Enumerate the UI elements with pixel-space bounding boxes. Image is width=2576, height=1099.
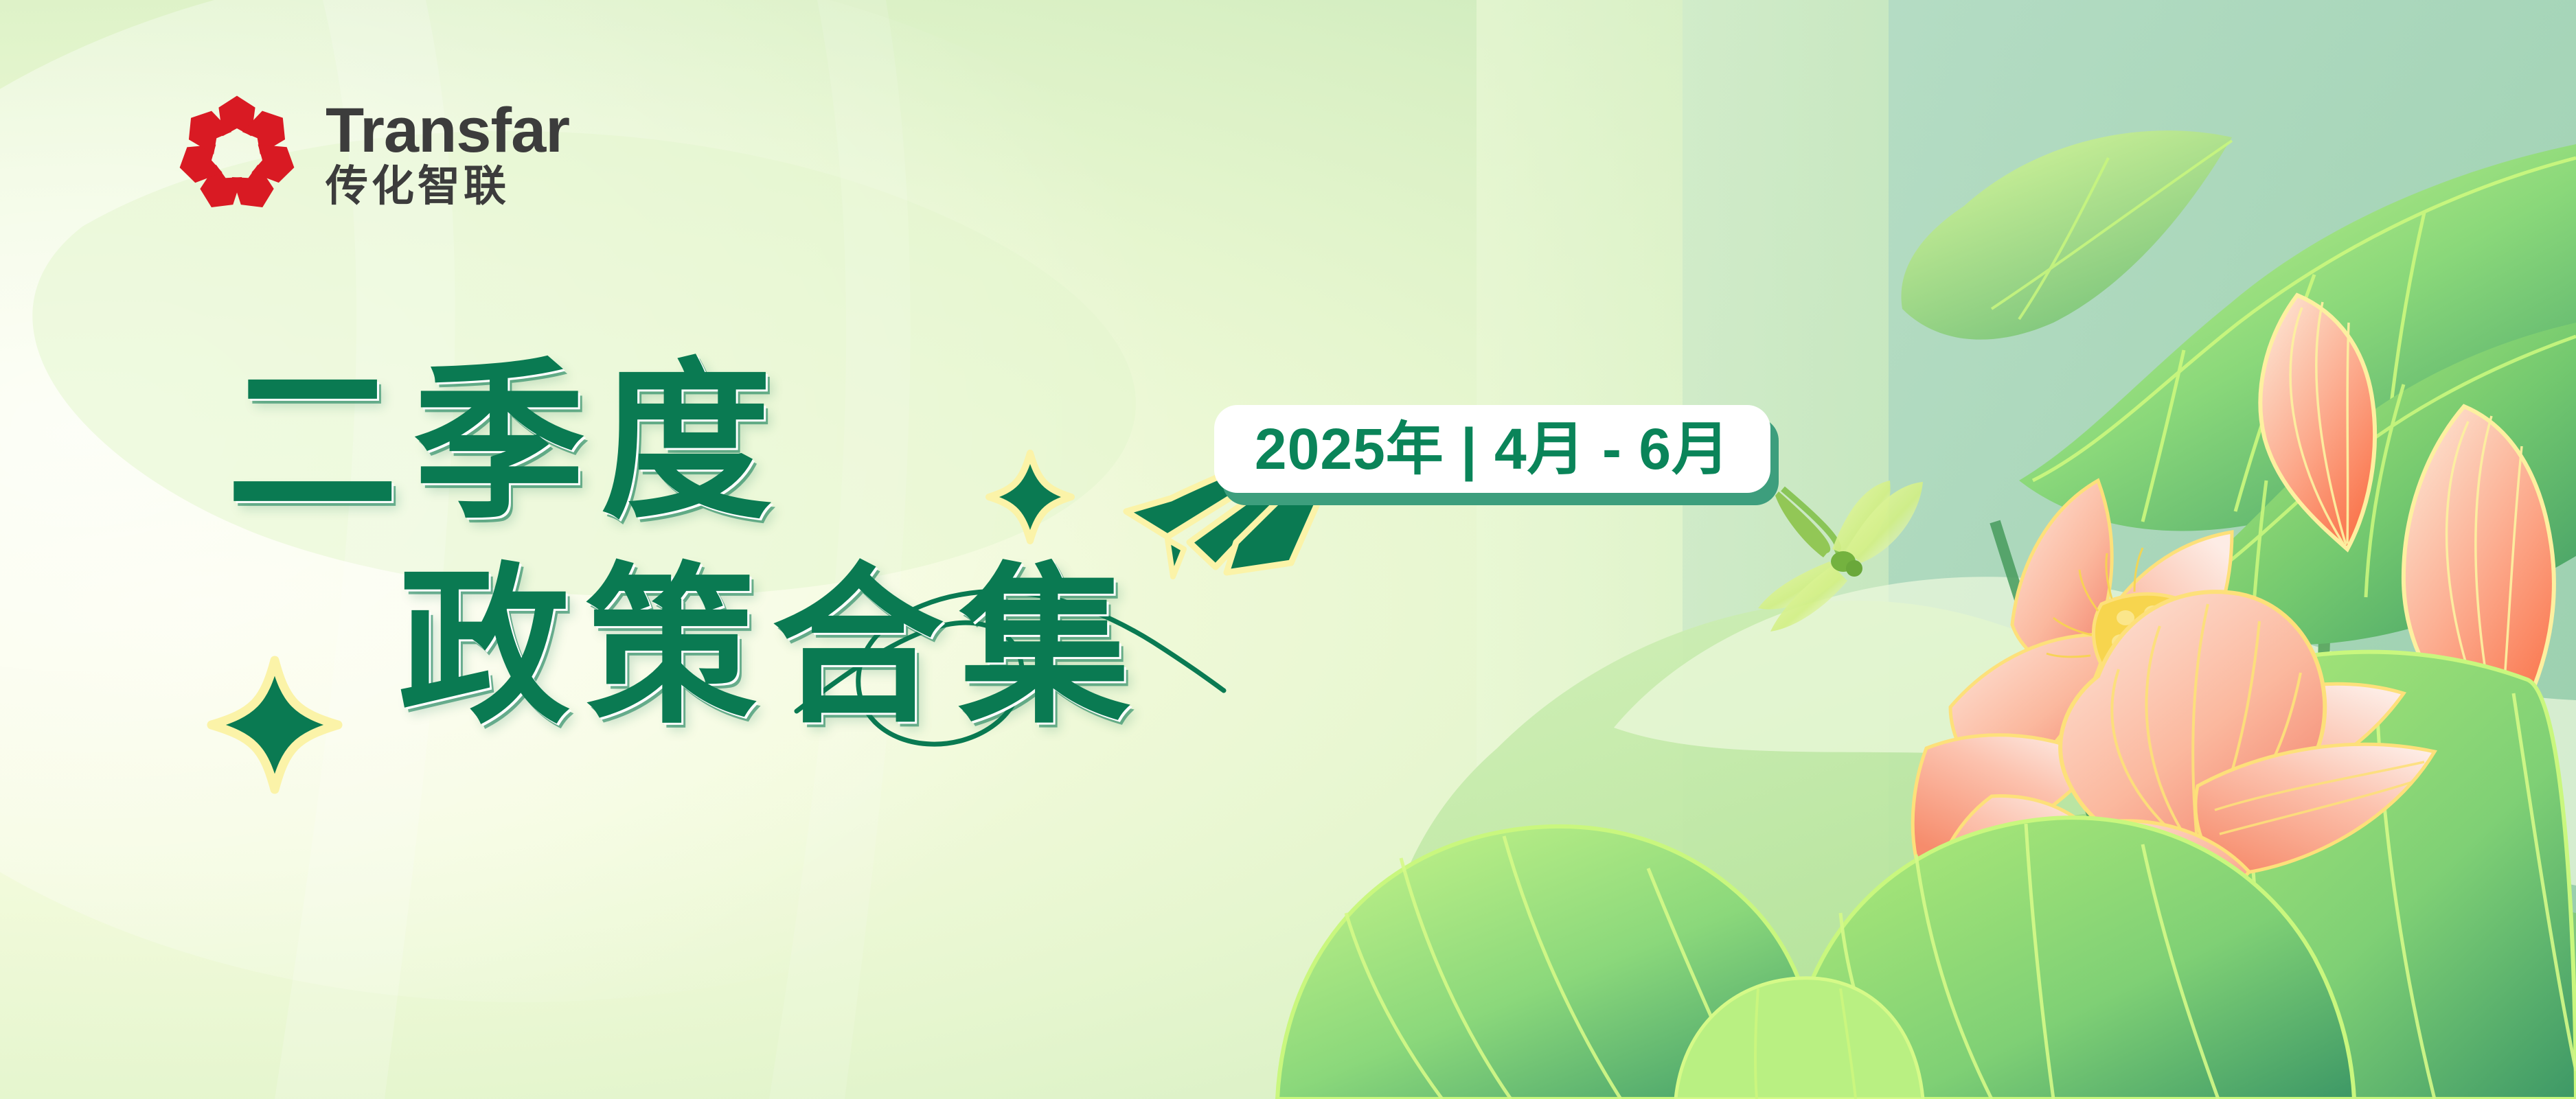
transfar-logo[interactable]: Transfar 传化智联	[172, 89, 569, 220]
transfar-pinwheel-mark	[172, 89, 302, 220]
headline-block: 二季度 政策合集	[206, 357, 1145, 733]
date-range-badge: 2025年 | 4月 - 6月	[1214, 405, 1770, 493]
headline-line-1: 二季度	[227, 357, 1145, 529]
badge-date-text: 2025年 | 4月 - 6月	[1255, 420, 1730, 478]
logo-chinese-name: 传化智联	[326, 163, 569, 210]
badge-face: 2025年 | 4月 - 6月	[1214, 405, 1770, 493]
quarterly-policy-banner: Transfar 传化智联 二季度 政策合集 2025年 | 4月 - 6月	[0, 0, 2576, 1099]
headline-line-2: 政策合集	[398, 562, 1145, 733]
logo-english-name: Transfar	[326, 99, 569, 162]
logo-wordmark: Transfar 传化智联	[326, 99, 569, 210]
